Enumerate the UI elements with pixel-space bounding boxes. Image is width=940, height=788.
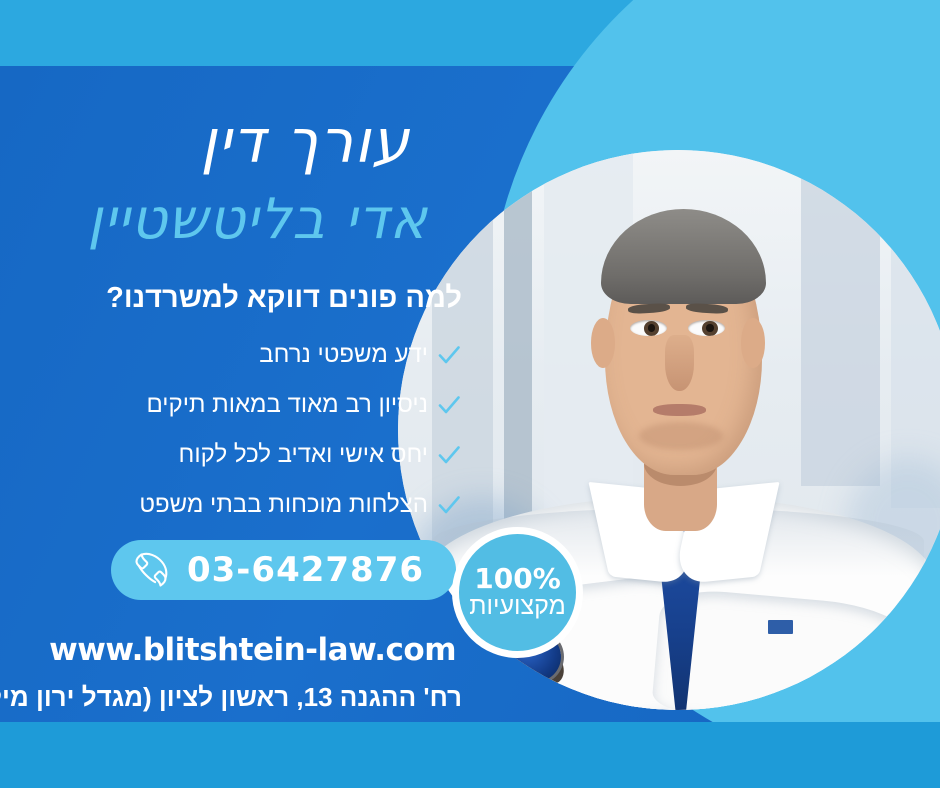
nose bbox=[665, 335, 694, 391]
call-phone-button[interactable]: 03-6427876 bbox=[111, 540, 456, 600]
badge-label: מקצועיות bbox=[469, 593, 566, 621]
check-icon bbox=[436, 492, 462, 518]
content-column: עורך דין אדי בליטשטיין למה פונים דווקא ל… bbox=[0, 0, 470, 788]
page-title: עורך דין bbox=[200, 112, 410, 172]
benefits-list: ידע משפטי נרחב ניסיון רב מאוד במאות תיקי… bbox=[62, 330, 462, 530]
check-icon bbox=[436, 442, 462, 468]
phone-icon bbox=[129, 548, 173, 592]
check-icon bbox=[436, 392, 462, 418]
list-item: ניסיון רב מאוד במאות תיקים bbox=[62, 380, 462, 430]
list-item-label: הצלחות מוכחות בבתי משפט bbox=[139, 491, 428, 519]
list-item-label: יחס אישי ואדיב לכל לקוח bbox=[179, 441, 428, 469]
badge-percent: 100% bbox=[474, 564, 561, 593]
list-item: יחס אישי ואדיב לכל לקוח bbox=[62, 430, 462, 480]
professionalism-badge: 100% מקצועיות bbox=[452, 527, 583, 658]
website-url[interactable]: www.blitshtein-law.com bbox=[49, 632, 456, 668]
hair bbox=[601, 209, 767, 304]
list-item-label: ידע משפטי נרחב bbox=[259, 341, 428, 369]
shirt-pocket-logo bbox=[768, 620, 793, 633]
phone-number: 03-6427876 bbox=[173, 550, 438, 590]
list-item: הצלחות מוכחות בבתי משפט bbox=[62, 480, 462, 530]
advertisement-banner: 100% מקצועיות עורך דין אדי בליטשטיין למה… bbox=[0, 0, 940, 788]
lawyer-name: אדי בליטשטיין bbox=[87, 192, 428, 248]
mouth bbox=[653, 404, 706, 416]
list-item-label: ניסיון רב מאוד במאות תיקים bbox=[147, 391, 429, 419]
iris-left bbox=[644, 321, 660, 336]
iris-right bbox=[702, 321, 718, 336]
office-address: רח' ההגנה 13, ראשון לציון (מגדל ירון מיל… bbox=[0, 682, 462, 713]
list-item: ידע משפטי נרחב bbox=[62, 330, 462, 380]
check-icon bbox=[436, 342, 462, 368]
section-heading: למה פונים דווקא למשרדנו? bbox=[106, 282, 462, 315]
chin-shadow bbox=[639, 422, 723, 450]
